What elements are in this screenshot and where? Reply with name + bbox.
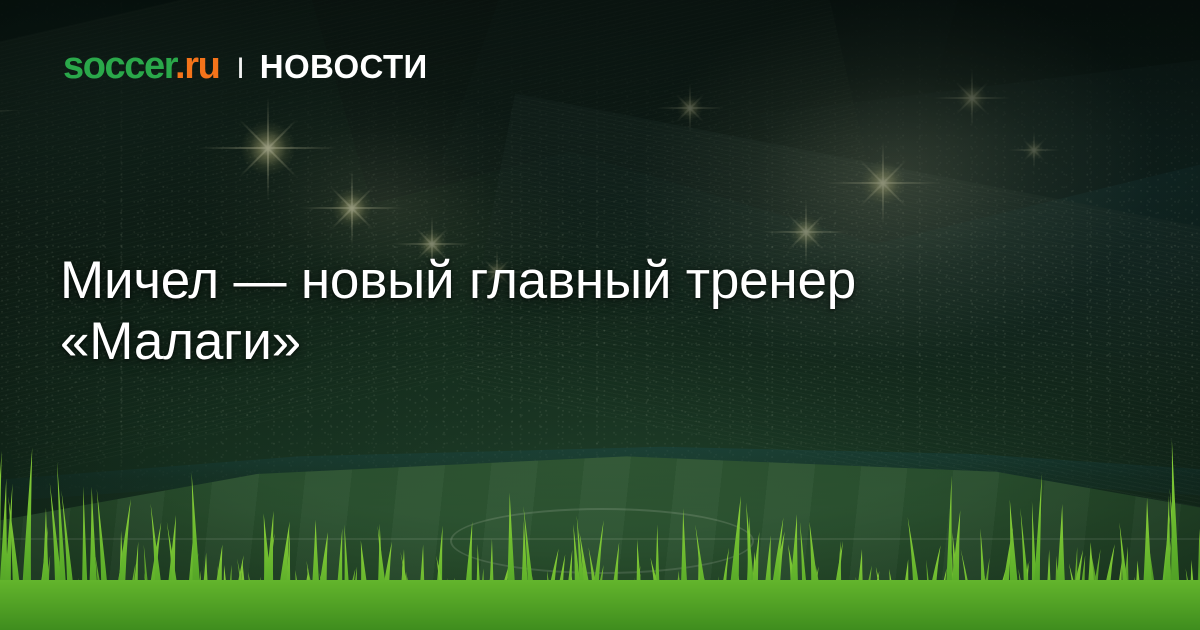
brand-wordmark-primary: soccer (63, 45, 175, 87)
brand-wordmark[interactable]: soccer.ru (63, 47, 219, 85)
brand-wordmark-suffix: .ru (175, 45, 219, 87)
brand-logo-bar[interactable]: soccer.ru I НОВОСТИ (63, 47, 428, 85)
section-label-news[interactable]: НОВОСТИ (260, 50, 428, 83)
news-share-card: soccer.ru I НОВОСТИ Мичел — новый главны… (0, 0, 1200, 630)
brand-separator: I (236, 54, 244, 84)
article-headline: Мичел — новый главный тренер «Малаги» (60, 250, 1060, 372)
